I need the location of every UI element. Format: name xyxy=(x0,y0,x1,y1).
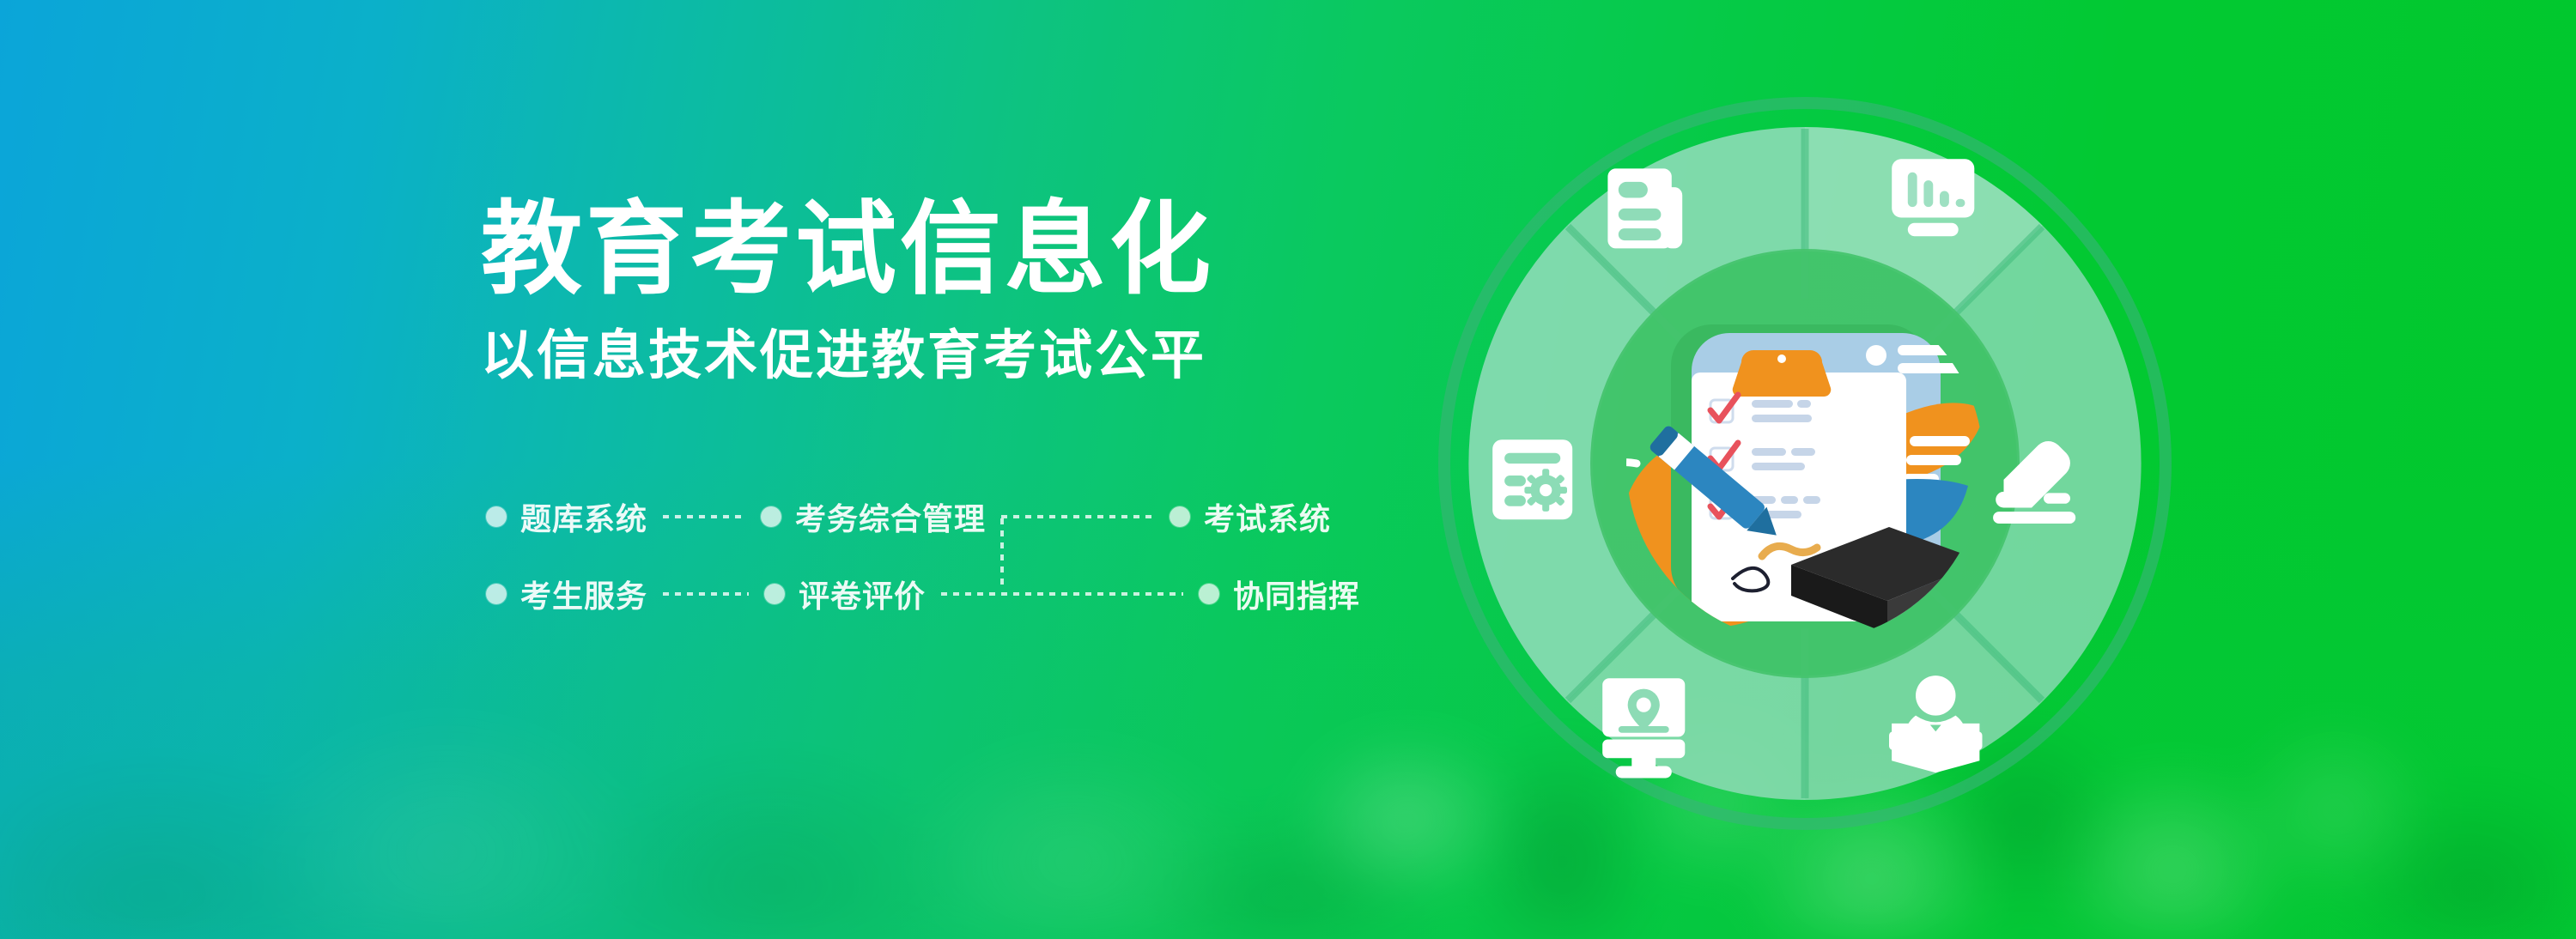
education-exam-banner: 教育考试信息化 以信息技术促进教育考试公平 题库系统 考务综合管理 考试系统 xyxy=(0,0,2576,939)
bullet-dot-icon xyxy=(761,506,781,527)
bullet-dot-icon xyxy=(486,506,507,527)
feature-item-tiku[interactable]: 题库系统 xyxy=(486,494,647,539)
dotted-connector xyxy=(1001,515,1154,518)
feature-label: 考试系统 xyxy=(1204,494,1331,539)
leaf-line xyxy=(1910,436,1970,446)
exam-system-wheel-diagram xyxy=(1434,93,2176,834)
bullet-dot-icon xyxy=(486,584,507,604)
headline-block: 教育考试信息化 以信息技术促进教育考试公平 xyxy=(481,196,1340,386)
feature-label: 评卷评价 xyxy=(799,572,926,616)
leaf-line xyxy=(1906,455,1961,465)
bullet-dot-icon xyxy=(1199,584,1219,604)
feature-item-kaoshi[interactable]: 考试系统 xyxy=(1170,494,1331,539)
header-bullet-dot xyxy=(1866,345,1886,366)
feature-label: 考务综合管理 xyxy=(795,494,986,539)
page-title: 教育考试信息化 xyxy=(481,196,1340,305)
feature-item-pingjuan[interactable]: 评卷评价 xyxy=(764,572,926,616)
document-list-icon xyxy=(1607,168,1682,248)
bullet-dot-icon xyxy=(764,584,785,604)
feature-item-kaowu[interactable]: 考务综合管理 xyxy=(761,494,986,539)
clip-hole xyxy=(1777,354,1786,363)
feature-item-kaosheng[interactable]: 考生服务 xyxy=(486,572,647,616)
dotted-connector xyxy=(663,592,749,596)
bullet-dot-icon xyxy=(1170,506,1190,527)
dotted-connector xyxy=(941,592,1183,596)
page-subtitle: 以信息技术促进教育考试公平 xyxy=(481,327,1340,385)
feature-label: 题库系统 xyxy=(520,494,647,539)
feature-row-2: 考生服务 评卷评价 协同指挥 xyxy=(486,563,1173,625)
feature-list: 题库系统 考务综合管理 考试系统 考生服务 评卷评价 xyxy=(486,486,1173,625)
feature-label: 考生服务 xyxy=(520,572,647,616)
feature-item-xietong[interactable]: 协同指挥 xyxy=(1199,572,1360,616)
document-gear-icon xyxy=(1492,439,1572,519)
feature-label: 协同指挥 xyxy=(1233,572,1360,616)
dotted-connector xyxy=(663,515,745,518)
feature-row-1: 题库系统 考务综合管理 考试系统 xyxy=(486,486,1173,548)
dotted-connector-vertical xyxy=(1000,518,1004,591)
